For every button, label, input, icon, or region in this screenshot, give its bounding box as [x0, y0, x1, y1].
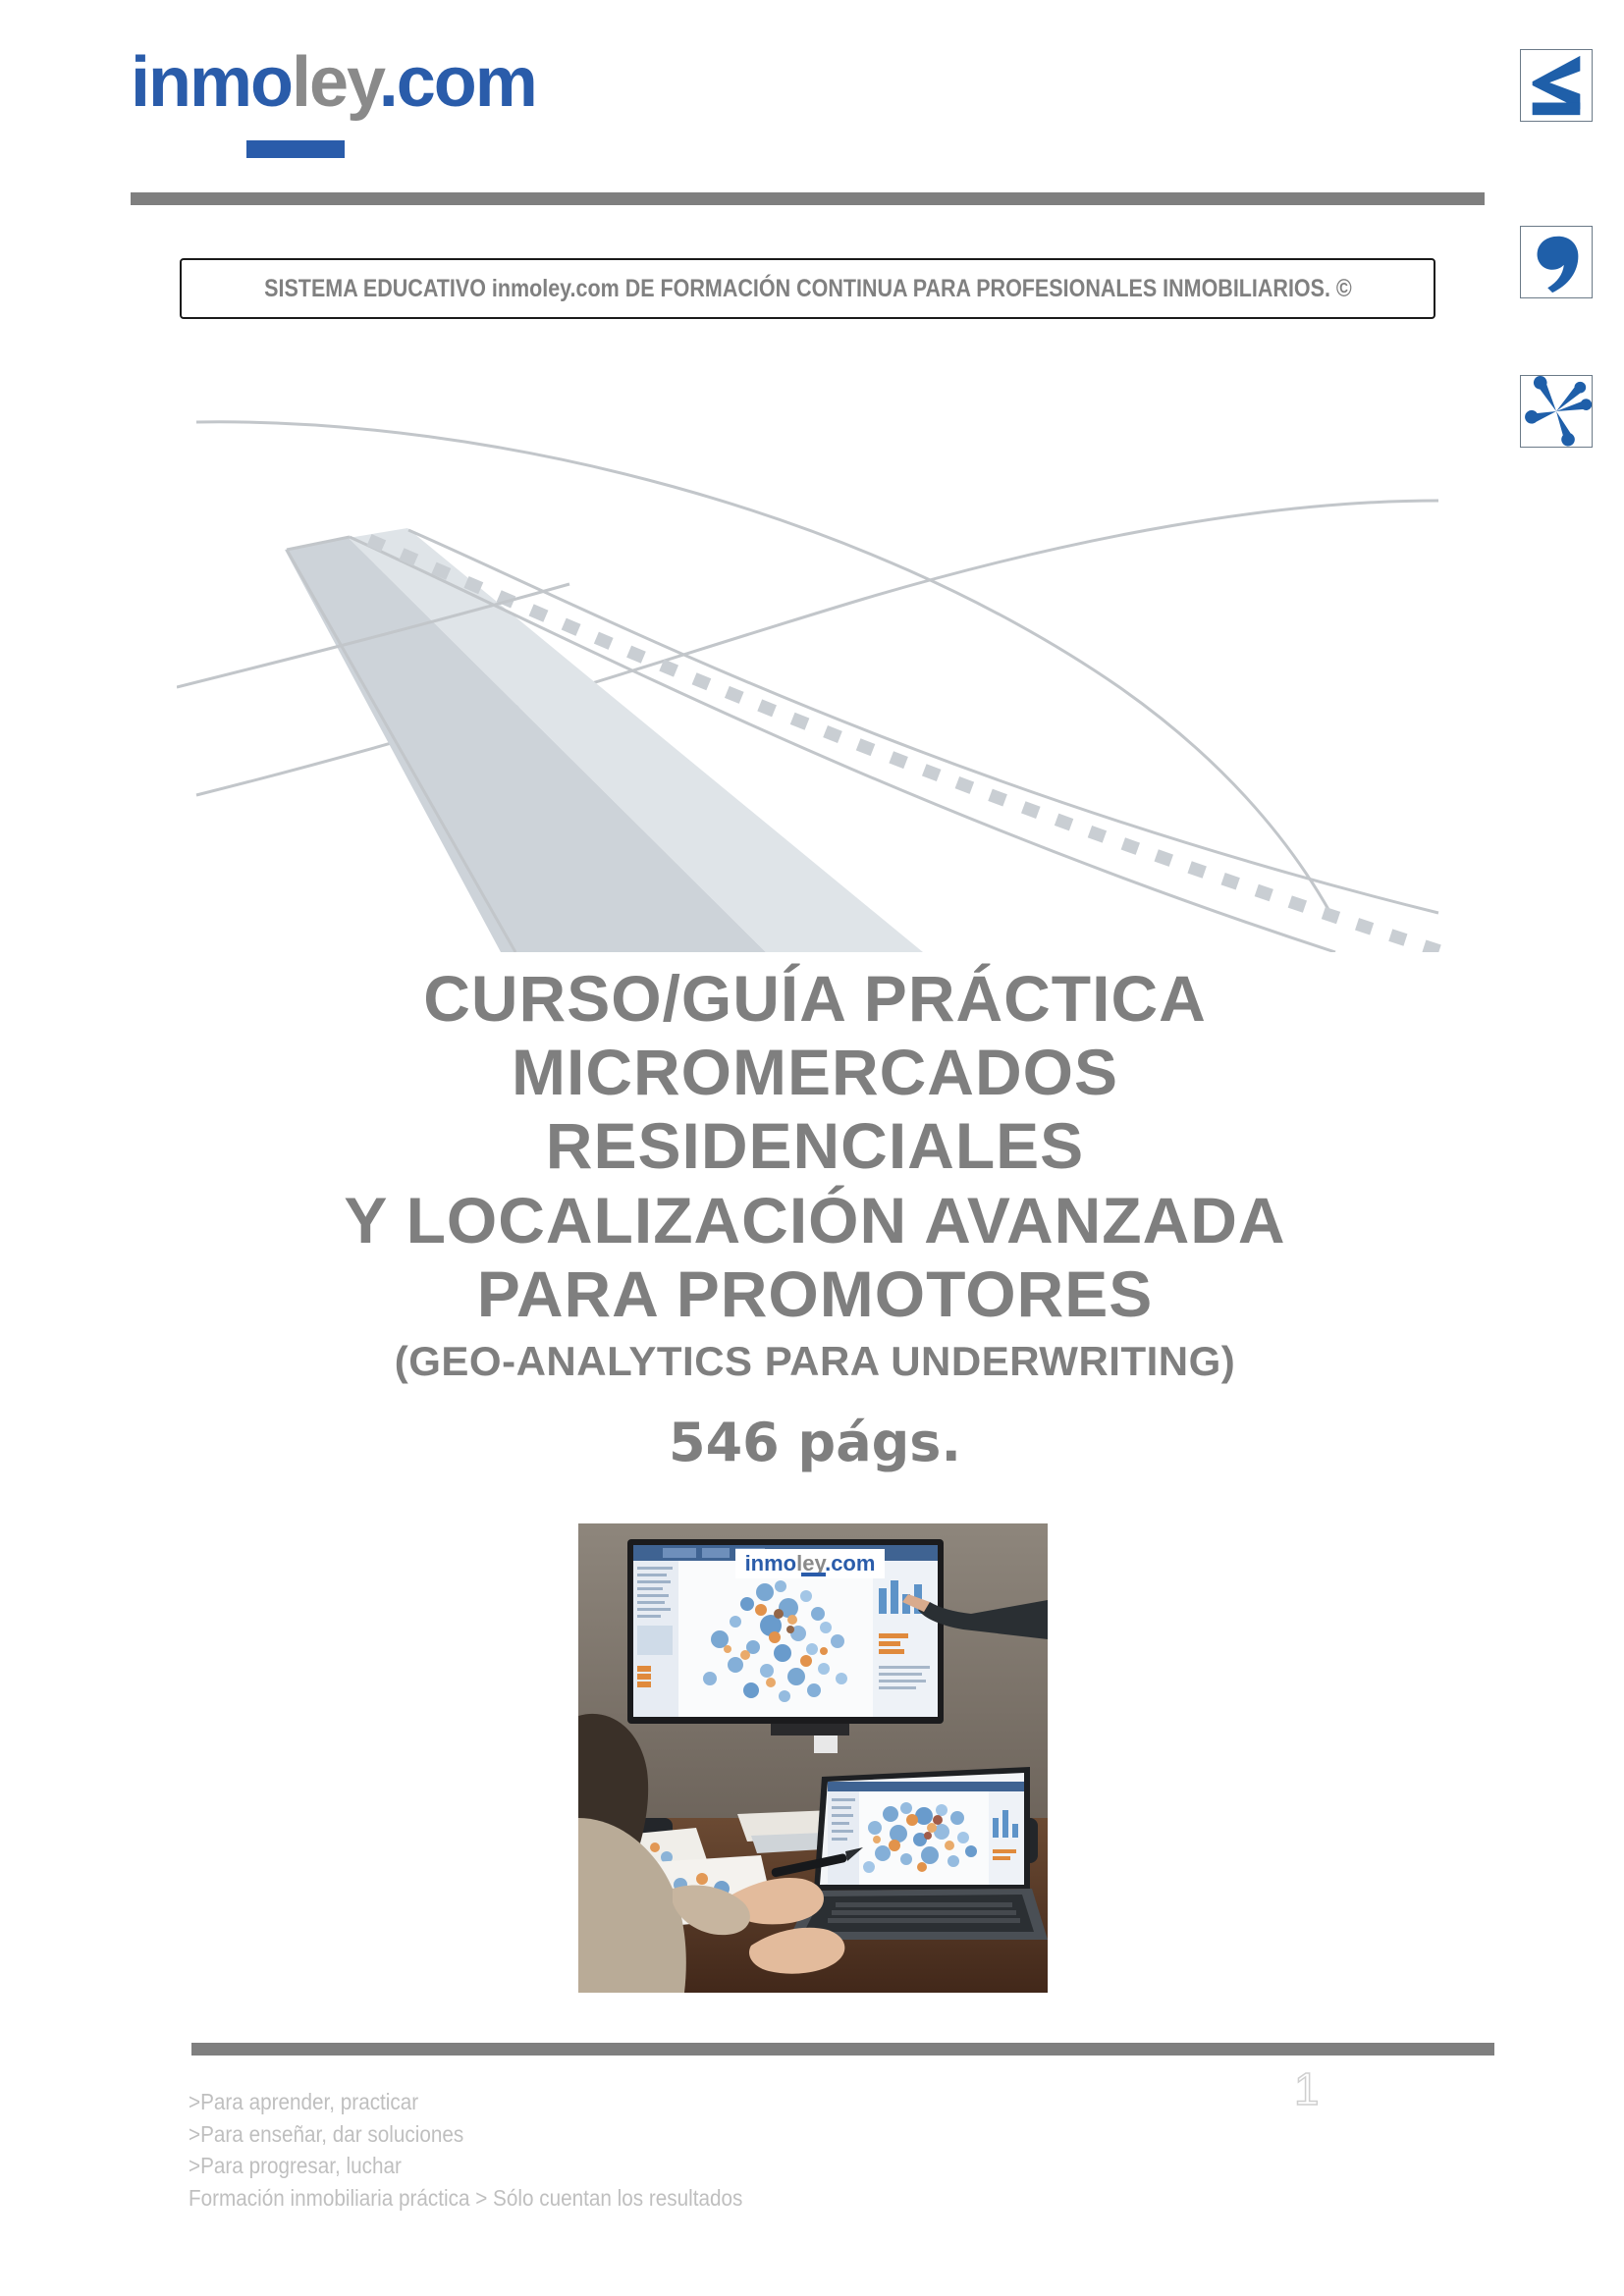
- logo-text-ley: ley: [292, 43, 379, 122]
- cover-photo: inmoley.com: [578, 1523, 1048, 1993]
- title-subtitle: (GEO-ANALYTICS PARA UNDERWRITING): [118, 1335, 1512, 1389]
- asterisk-splash-icon: [1520, 375, 1593, 448]
- footer-line-3: >Para progresar, luchar: [189, 2150, 1161, 2182]
- footer-line-4: Formación inmobiliaria práctica > Sólo c…: [189, 2182, 1161, 2215]
- title-line-1: CURSO/GUÍA PRÁCTICA: [118, 962, 1512, 1036]
- logo-underline-bar: [246, 140, 345, 158]
- education-system-banner: SISTEMA EDUCATIVO inmoley.com DE FORMACI…: [180, 258, 1435, 319]
- title-line-2: MICROMERCADOS: [118, 1036, 1512, 1109]
- title-line-5: PARA PROMOTORES: [118, 1257, 1512, 1331]
- footer-line-2: >Para enseñar, dar soluciones: [189, 2118, 1161, 2151]
- page-title: CURSO/GUÍA PRÁCTICA MICROMERCADOS RESIDE…: [118, 962, 1512, 1477]
- document-page: inmoley.com: [0, 0, 1624, 2296]
- page-count-label: 546 págs.: [118, 1409, 1512, 1477]
- page-number: 1: [1294, 2066, 1320, 2111]
- inmoley-logo: inmoley.com: [131, 47, 536, 118]
- svg-text:inmoley.com: inmoley.com: [745, 1551, 876, 1575]
- comma-mark-icon: [1520, 226, 1593, 298]
- logo-text-inmo: inmo: [131, 43, 292, 122]
- title-line-4: Y LOCALIZACIÓN AVANZADA: [118, 1184, 1512, 1257]
- footer-slogans: >Para aprender, practicar >Para enseñar,…: [189, 2086, 1269, 2215]
- footer-divider-bar: [191, 2043, 1494, 2056]
- education-system-banner-text: SISTEMA EDUCATIVO inmoley.com DE FORMACI…: [264, 275, 1352, 303]
- road-perspective-artwork: [177, 363, 1443, 952]
- logo-text-com: .com: [379, 43, 536, 122]
- title-line-3: RESIDENCIALES: [118, 1109, 1512, 1183]
- header-divider-bar: [131, 192, 1485, 205]
- chevron-left-mark-icon: [1520, 49, 1593, 122]
- footer-line-1: >Para aprender, practicar: [189, 2086, 1161, 2118]
